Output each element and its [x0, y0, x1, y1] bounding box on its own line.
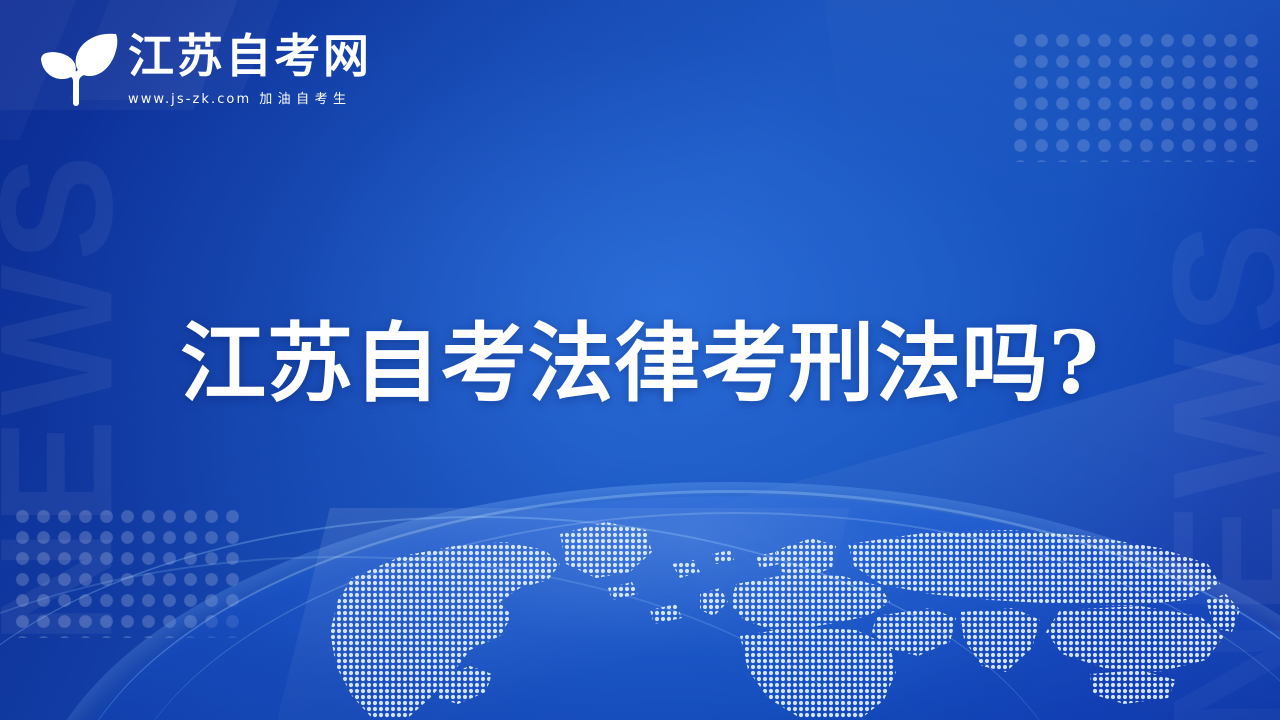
sprout-icon — [38, 26, 122, 110]
logo-title: 江苏自考网 — [128, 32, 372, 80]
globe-graphic — [0, 460, 1280, 720]
page-title: 江苏自考法律考刑法吗? — [0, 318, 1280, 411]
world-map-dots-icon — [0, 460, 1280, 720]
logo-subtitle: www.js-zk.com加油自考生 — [128, 88, 372, 107]
logo-slogan: 加油自考生 — [259, 92, 351, 107]
news-banner: NEWS NEWS — [0, 0, 1280, 720]
site-logo[interactable]: 江苏自考网 www.js-zk.com加油自考生 — [38, 26, 372, 110]
logo-url: www.js-zk.com — [128, 92, 251, 107]
logo-text-block: 江苏自考网 www.js-zk.com加油自考生 — [128, 26, 372, 107]
